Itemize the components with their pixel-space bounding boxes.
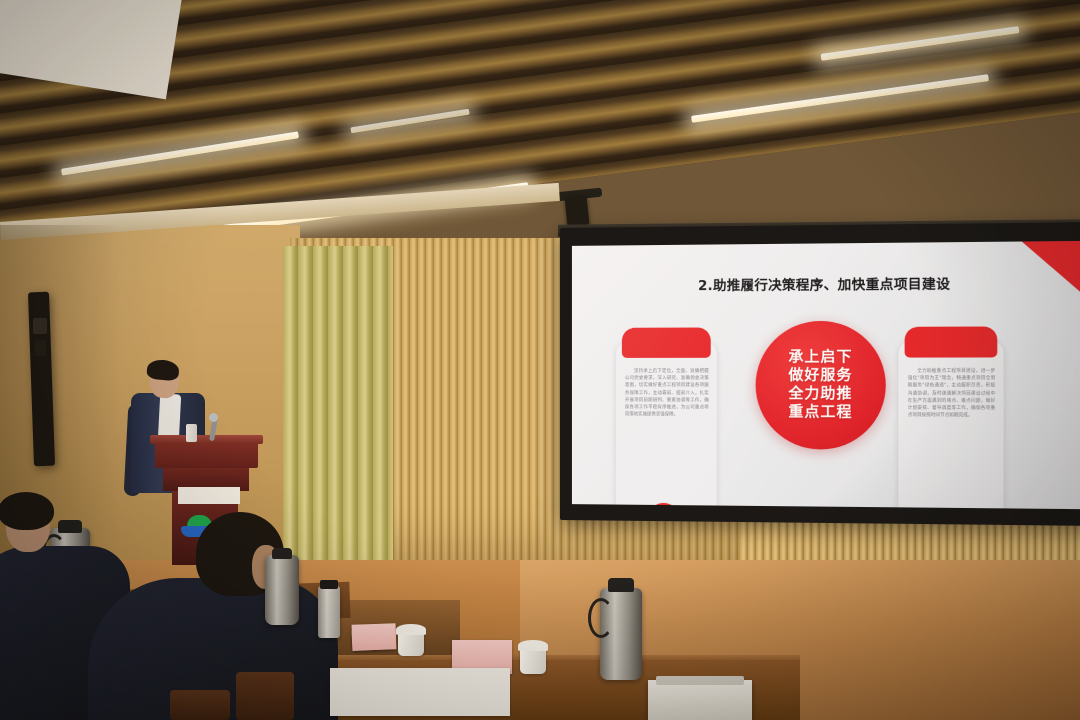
center-line-2: 做好服务 (788, 367, 852, 385)
slide-card-02: 全力助推重点工程项目建设，进一步强化"项目为王"理念，畅通重点项目全周期服务"绿… (898, 341, 1003, 509)
chair-back (236, 672, 294, 720)
podium-paper (178, 487, 240, 504)
bottle-cap (320, 580, 338, 589)
conference-room-photo: 2.助推履行决策程序、加快重点项目建设 坚持承上启下定位，全面、准确把握公司党委… (0, 0, 1080, 720)
document-box-lid (656, 676, 743, 685)
slide-title: 2.助推履行决策程序、加快重点项目建设 (572, 272, 1080, 295)
slide-center-circle: 承上启下 做好服务 全力助推 重点工程 (756, 321, 886, 450)
ceiling-projector (564, 195, 589, 227)
teacup (398, 632, 424, 656)
loudspeaker-bracket (33, 318, 47, 334)
name-placard (352, 623, 397, 651)
thermos-lid (608, 578, 634, 592)
center-line-3: 全力助推 (788, 385, 852, 403)
podium-body (155, 440, 258, 468)
stage-curtain (283, 246, 393, 566)
loudspeaker-bracket (35, 340, 46, 356)
chair-back (170, 690, 230, 720)
placard-name (352, 635, 396, 637)
card-header-bar (905, 326, 998, 357)
water-bottle (318, 586, 340, 638)
center-line-4: 重点工程 (788, 404, 852, 423)
thermos-lid (58, 520, 82, 533)
thermos-flask (265, 555, 299, 625)
teacup-lid (518, 640, 548, 651)
thermos-lid (272, 548, 292, 559)
card-header-bar (622, 327, 711, 357)
card-text-02: 全力助推重点工程项目建设，进一步强化"项目为王"理念，畅通重点项目全周期服务"绿… (908, 368, 995, 420)
projection-screen: 2.助推履行决策程序、加快重点项目建设 坚持承上启下定位，全面、准确把握公司党委… (560, 222, 1080, 526)
card-text-01: 坚持承上启下定位，全面、准确把握公司党委要求，深入研究、准确领会决策意图，切实做… (625, 368, 709, 419)
card-body-02: 全力助推重点工程项目建设，进一步强化"项目为王"理念，畅通重点项目全周期服务"绿… (908, 368, 995, 494)
teacup-lid (396, 624, 426, 635)
thermos-handle (588, 598, 614, 638)
audience-hair-left (0, 492, 54, 530)
podium-cup (186, 424, 197, 442)
teacup (520, 648, 546, 674)
presentation-slide: 2.助推履行决策程序、加快重点项目建设 坚持承上启下定位，全面、准确把握公司党委… (572, 241, 1080, 509)
slide-card-01: 坚持承上启下定位，全面、准确把握公司党委要求，深入研究、准确领会决策意图，切实做… (616, 342, 717, 510)
card-badge-01: 01 (648, 503, 679, 509)
document-box (648, 680, 752, 720)
card-body-01: 坚持承上启下定位，全面、准确把握公司党委要求，深入研究、准确领会决策意图，切实做… (625, 368, 709, 491)
podium-top (150, 435, 263, 444)
document-sheet (330, 668, 510, 716)
center-line-1: 承上启下 (788, 348, 852, 366)
microphone-head (209, 413, 218, 422)
